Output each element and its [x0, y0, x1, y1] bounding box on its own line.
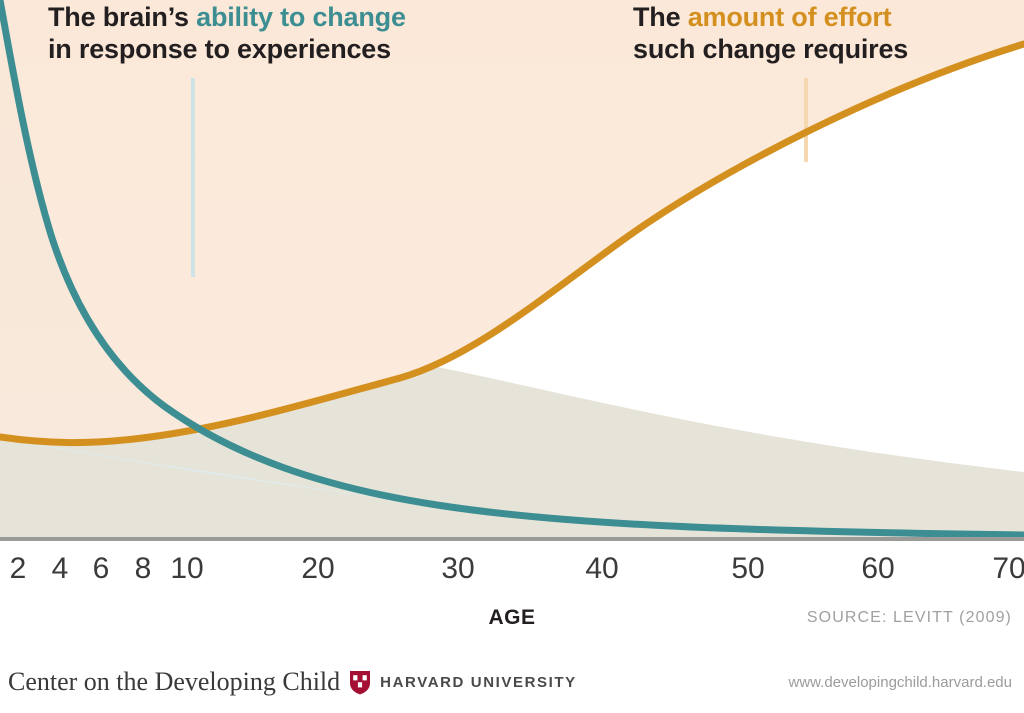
annotation-brain-plasticity: The brain’s ability to change in respons…: [48, 2, 406, 66]
x-axis-tick-2: 2: [10, 552, 27, 586]
annotation-plasticity-accent: ability to change: [196, 2, 406, 32]
overlap-area-right: [437, 367, 1024, 537]
x-axis-tick-70: 70: [992, 552, 1024, 586]
x-axis-tick-labels: 246810203040506070: [0, 552, 1024, 592]
x-axis-tick-20: 20: [301, 552, 334, 586]
chart-page: The brain’s ability to change in respons…: [0, 0, 1024, 713]
x-axis-tick-50: 50: [731, 552, 764, 586]
effort-area: [0, 0, 1024, 442]
annotation-plasticity-line1: The brain’s ability to change: [48, 2, 406, 34]
x-axis-tick-30: 30: [441, 552, 474, 586]
x-axis-baseline: [0, 537, 1024, 541]
annotation-effort-line2: such change requires: [633, 34, 908, 66]
footer: Center on the Developing Child HARVARD U…: [0, 660, 1024, 713]
annotation-plasticity-prefix: The brain’s: [48, 2, 196, 32]
footer-url[interactable]: www.developingchild.harvard.edu: [789, 674, 1012, 691]
plot-area: [0, 0, 1024, 545]
footer-center-name: Center on the Developing Child: [8, 667, 340, 697]
annotation-effort-accent: amount of effort: [688, 2, 892, 32]
x-axis-tick-4: 4: [52, 552, 69, 586]
x-axis-tick-6: 6: [93, 552, 110, 586]
x-axis-tick-60: 60: [861, 552, 894, 586]
annotation-effort-required: The amount of effort such change require…: [633, 2, 908, 66]
footer-university: HARVARD UNIVERSITY: [380, 674, 577, 691]
footer-brand: Center on the Developing Child HARVARD U…: [8, 667, 577, 697]
harvard-shield-icon: [349, 670, 371, 695]
x-axis-tick-10: 10: [170, 552, 203, 586]
source-note: SOURCE: LEVITT (2009): [807, 609, 1012, 627]
annotation-plasticity-line2: in response to experiences: [48, 34, 406, 66]
chart-svg: [0, 0, 1024, 545]
x-axis-tick-40: 40: [585, 552, 618, 586]
annotation-effort-line1: The amount of effort: [633, 2, 908, 34]
annotation-effort-prefix: The: [633, 2, 688, 32]
x-axis-tick-8: 8: [135, 552, 152, 586]
